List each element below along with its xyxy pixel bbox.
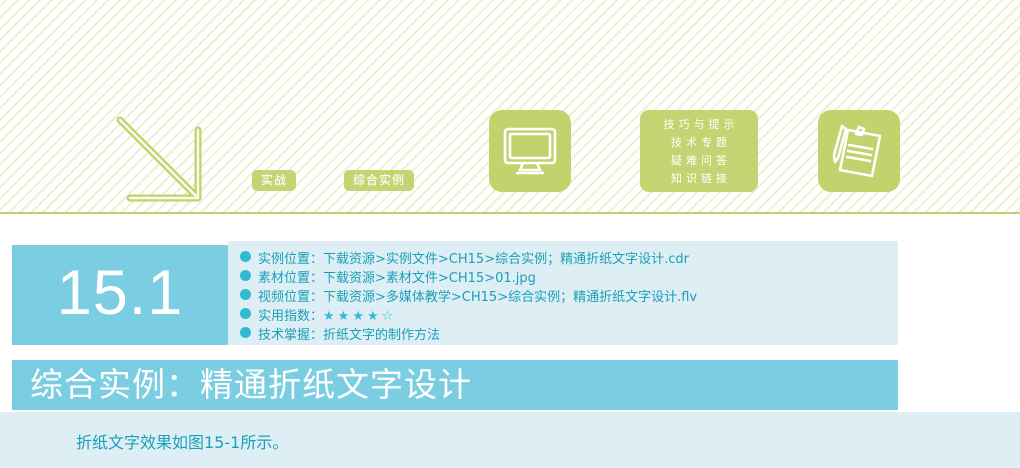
monitor-icon	[489, 110, 571, 192]
info-label: 实用指数：	[258, 305, 323, 324]
info-value: 折纸文字的制作方法	[323, 324, 440, 343]
section-title-bar: 综合实例：精通折纸文字设计	[12, 360, 898, 410]
info-row-example-location: 实例位置： 下载资源>实例文件>CH15>综合实例；精通折纸文字设计.cdr	[228, 248, 898, 266]
badge-shizhan[interactable]: 实战	[252, 170, 296, 191]
bullet-icon	[240, 308, 251, 319]
clipboard-pencil-icon	[818, 110, 900, 192]
tips-line-1: 技巧与提示	[660, 116, 739, 133]
info-row-technique: 技术掌握： 折纸文字的制作方法	[228, 324, 898, 342]
arrow-down-right-icon	[112, 110, 222, 205]
badge-zonghe-shili[interactable]: 综合实例	[344, 170, 414, 191]
info-label: 技术掌握：	[258, 324, 323, 343]
info-row-difficulty-rating: 实用指数： ★★★★☆	[228, 305, 898, 323]
banner-divider	[0, 212, 1020, 214]
info-label: 素材位置：	[258, 267, 323, 286]
bullet-icon	[240, 289, 251, 300]
body-content-area: 折纸文字效果如图15-1所示。	[0, 412, 1020, 468]
top-banner: 实战 综合实例 技巧与提示 技术专题 疑难问答 知识链接	[0, 0, 1020, 214]
info-label: 视频位置：	[258, 286, 323, 305]
page-title: 综合实例：精通折纸文字设计	[12, 368, 472, 401]
section-number-box: 15.1	[12, 245, 228, 345]
tips-line-3: 疑难问答	[667, 152, 731, 169]
info-label: 实例位置：	[258, 248, 323, 267]
bullet-icon	[240, 327, 251, 338]
section-number: 15.1	[57, 262, 184, 325]
star-rating: ★★★★☆	[323, 308, 396, 324]
tips-line-2: 技术专题	[667, 134, 731, 151]
clipboard-icon-box[interactable]	[818, 110, 900, 192]
info-row-video-location: 视频位置： 下载资源>多媒体教学>CH15>综合实例；精通折纸文字设计.flv	[228, 286, 898, 304]
section-info-box: 实例位置： 下载资源>实例文件>CH15>综合实例；精通折纸文字设计.cdr 素…	[228, 241, 898, 345]
body-paragraph: 折纸文字效果如图15-1所示。	[76, 429, 288, 453]
tips-label-box[interactable]: 技巧与提示 技术专题 疑难问答 知识链接	[640, 110, 758, 192]
tips-line-4: 知识链接	[667, 170, 731, 187]
info-value: 下载资源>素材文件>CH15>01.jpg	[323, 267, 536, 286]
info-value: 下载资源>多媒体教学>CH15>综合实例；精通折纸文字设计.flv	[323, 286, 697, 305]
info-row-material-location: 素材位置： 下载资源>素材文件>CH15>01.jpg	[228, 267, 898, 285]
bullet-icon	[240, 270, 251, 281]
bullet-icon	[240, 251, 251, 262]
info-value: 下载资源>实例文件>CH15>综合实例；精通折纸文字设计.cdr	[323, 248, 689, 267]
monitor-icon-box[interactable]	[489, 110, 571, 192]
